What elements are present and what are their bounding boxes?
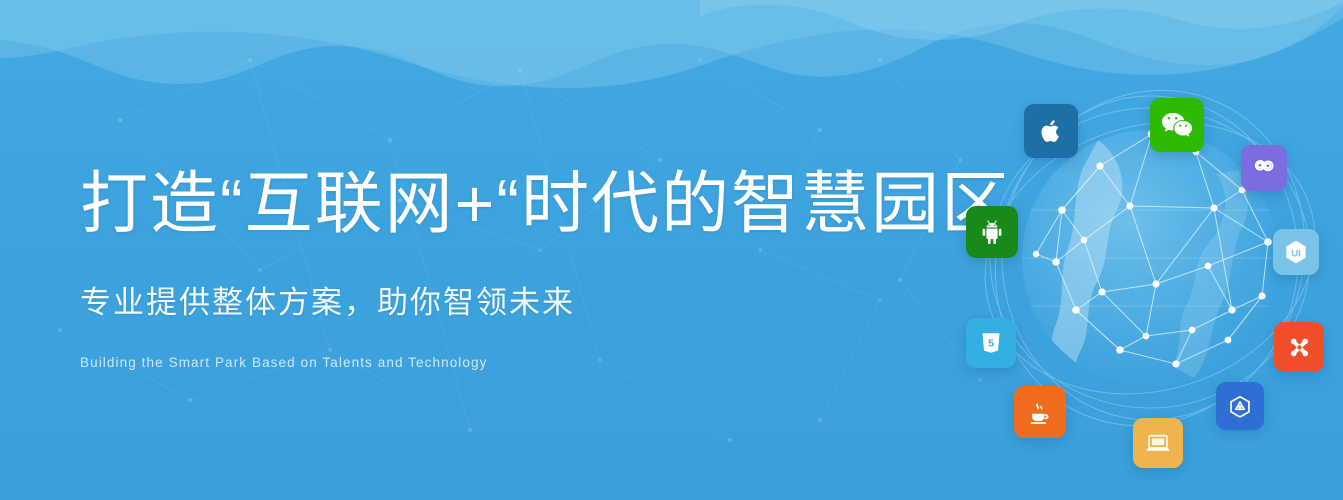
laptop-icon[interactable] (1133, 418, 1183, 468)
mini-program-icon[interactable] (1241, 145, 1287, 191)
html5-icon[interactable]: 5 (966, 318, 1016, 368)
svg-text:UI: UI (1291, 248, 1301, 259)
ui-icon[interactable]: UI (1273, 229, 1319, 275)
page-title: 打造“互联网+“时代的智慧园区 (80, 168, 940, 241)
java-icon[interactable] (1014, 386, 1066, 438)
android-icon[interactable] (966, 206, 1018, 258)
hero-subtitle: 专业提供整体方案，助你智领未来 (80, 277, 940, 322)
joomla-icon[interactable] (1274, 322, 1324, 372)
wechat-icon[interactable] (1150, 98, 1204, 152)
hero-copy: 打造“互联网+“时代的智慧园区 专业提供整体方案，助你智领未来 Building… (80, 168, 940, 370)
apple-icon[interactable] (1024, 104, 1078, 158)
hero-banner: 打造“互联网+“时代的智慧园区 专业提供整体方案，助你智领未来 Building… (0, 0, 1343, 500)
unity-icon[interactable] (1216, 382, 1264, 430)
svg-text:5: 5 (988, 338, 994, 350)
hero-tagline-english: Building the Smart Park Based on Talents… (80, 355, 940, 370)
